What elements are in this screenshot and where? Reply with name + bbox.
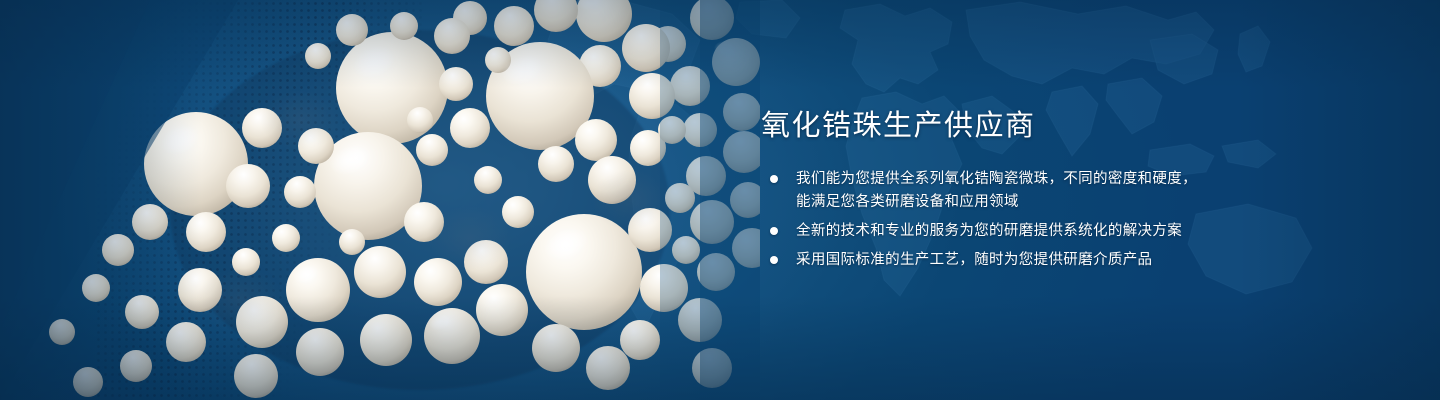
list-item: 全新的技术和专业的服务为您的研磨提供系统化的解决方案	[761, 220, 1281, 243]
list-item: 采用国际标准的生产工艺，随时为您提供研磨介质产品	[761, 249, 1281, 272]
banner-copy: 氧化锆珠生产供应商 我们能为您提供全系列氧化锆陶瓷微珠，不同的密度和硬度，能满足…	[761, 106, 1281, 278]
bullet-dot-icon	[770, 256, 778, 264]
feature-list: 我们能为您提供全系列氧化锆陶瓷微珠，不同的密度和硬度，能满足您各类研磨设备和应用…	[761, 168, 1281, 272]
list-item-text: 我们能为您提供全系列氧化锆陶瓷微珠，不同的密度和硬度，能满足您各类研磨设备和应用…	[796, 168, 1208, 214]
list-item-text: 采用国际标准的生产工艺，随时为您提供研磨介质产品	[796, 249, 1152, 272]
list-item-text: 全新的技术和专业的服务为您的研磨提供系统化的解决方案	[796, 220, 1182, 243]
hero-banner: 氧化锆珠生产供应商 我们能为您提供全系列氧化锆陶瓷微珠，不同的密度和硬度，能满足…	[0, 0, 1440, 400]
list-item: 我们能为您提供全系列氧化锆陶瓷微珠，不同的密度和硬度，能满足您各类研磨设备和应用…	[761, 168, 1281, 214]
bullet-dot-icon	[770, 227, 778, 235]
banner-title: 氧化锆珠生产供应商	[761, 106, 1281, 146]
bullet-dot-icon	[770, 175, 778, 183]
